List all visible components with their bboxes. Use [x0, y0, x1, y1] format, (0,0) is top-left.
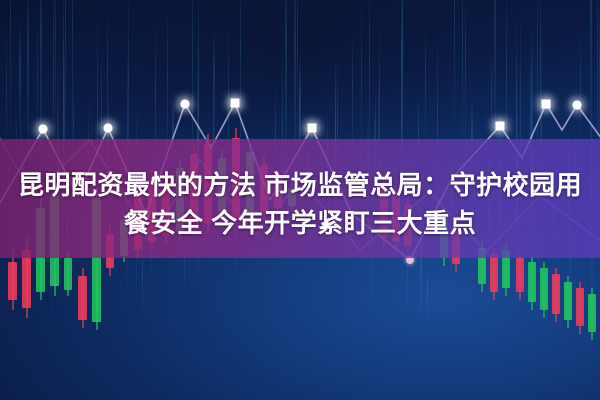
headline-line-1: 昆明配资最快的方法 市场监管总局：守护校园用	[0, 166, 600, 204]
zigzag-marker-circle	[38, 124, 47, 133]
market-news-banner: 昆明配资最快的方法 市场监管总局：守护校园用 餐安全 今年开学紧盯三大重点	[0, 0, 600, 400]
zigzag-marker-square	[308, 124, 317, 133]
zigzag-marker-circle	[572, 100, 581, 109]
zigzag-marker-square	[496, 122, 505, 131]
zigzag-marker-circle	[180, 99, 189, 108]
zigzag-marker-circle	[103, 123, 112, 132]
zigzag-marker-square	[542, 100, 551, 109]
zigzag-marker-square	[231, 99, 240, 108]
headline-line-2: 餐安全 今年开学紧盯三大重点	[0, 204, 600, 242]
